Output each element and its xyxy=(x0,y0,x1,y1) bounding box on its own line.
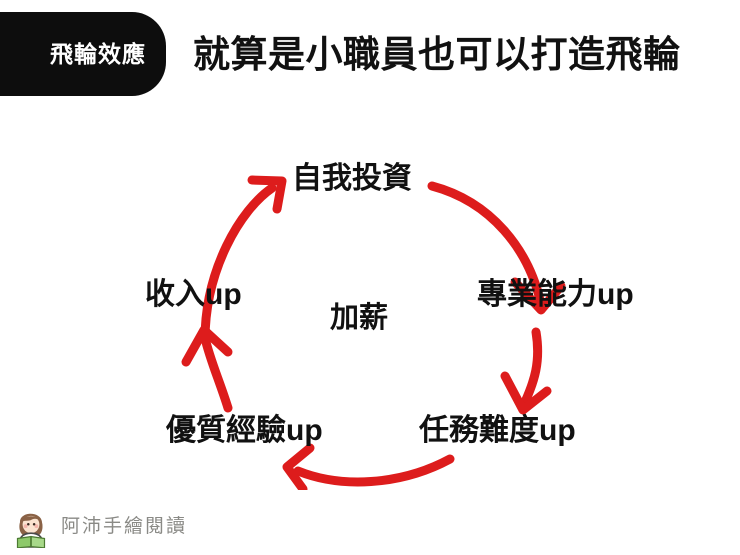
flywheel-cycle-diagram: 自我投資 專業能力up 任務難度up 優質經驗up 收入up 加薪 xyxy=(0,110,740,490)
footer-watermark: 阿沛手繪閱讀 xyxy=(8,503,187,549)
footer-brand-text: 阿沛手繪閱讀 xyxy=(61,517,187,536)
arrow-ability-to-difficulty xyxy=(505,332,547,410)
arrow-difficulty-to-experience xyxy=(287,448,450,489)
arrow-experience-to-income xyxy=(186,330,228,408)
arrow-income-to-self-investment xyxy=(205,180,282,340)
section-badge-label: 飛輪效應 xyxy=(50,43,146,66)
cycle-node-quality-experience: 優質經驗up xyxy=(166,416,323,446)
page-title: 就算是小職員也可以打造飛輪 xyxy=(193,22,738,88)
slide-header: 飛輪效應 就算是小職員也可以打造飛輪 xyxy=(0,0,740,110)
cycle-node-income: 收入up xyxy=(145,280,242,310)
cycle-node-self-investment: 自我投資 xyxy=(292,164,412,194)
slide-canvas: 飛輪效應 就算是小職員也可以打造飛輪 xyxy=(0,0,740,555)
cycle-node-professional-ability: 專業能力up xyxy=(477,280,634,310)
cycle-center-label: 加薪 xyxy=(330,304,388,333)
cycle-node-task-difficulty: 任務難度up xyxy=(419,416,576,446)
person-reading-book-icon xyxy=(8,504,54,548)
section-badge: 飛輪效應 xyxy=(0,12,166,96)
